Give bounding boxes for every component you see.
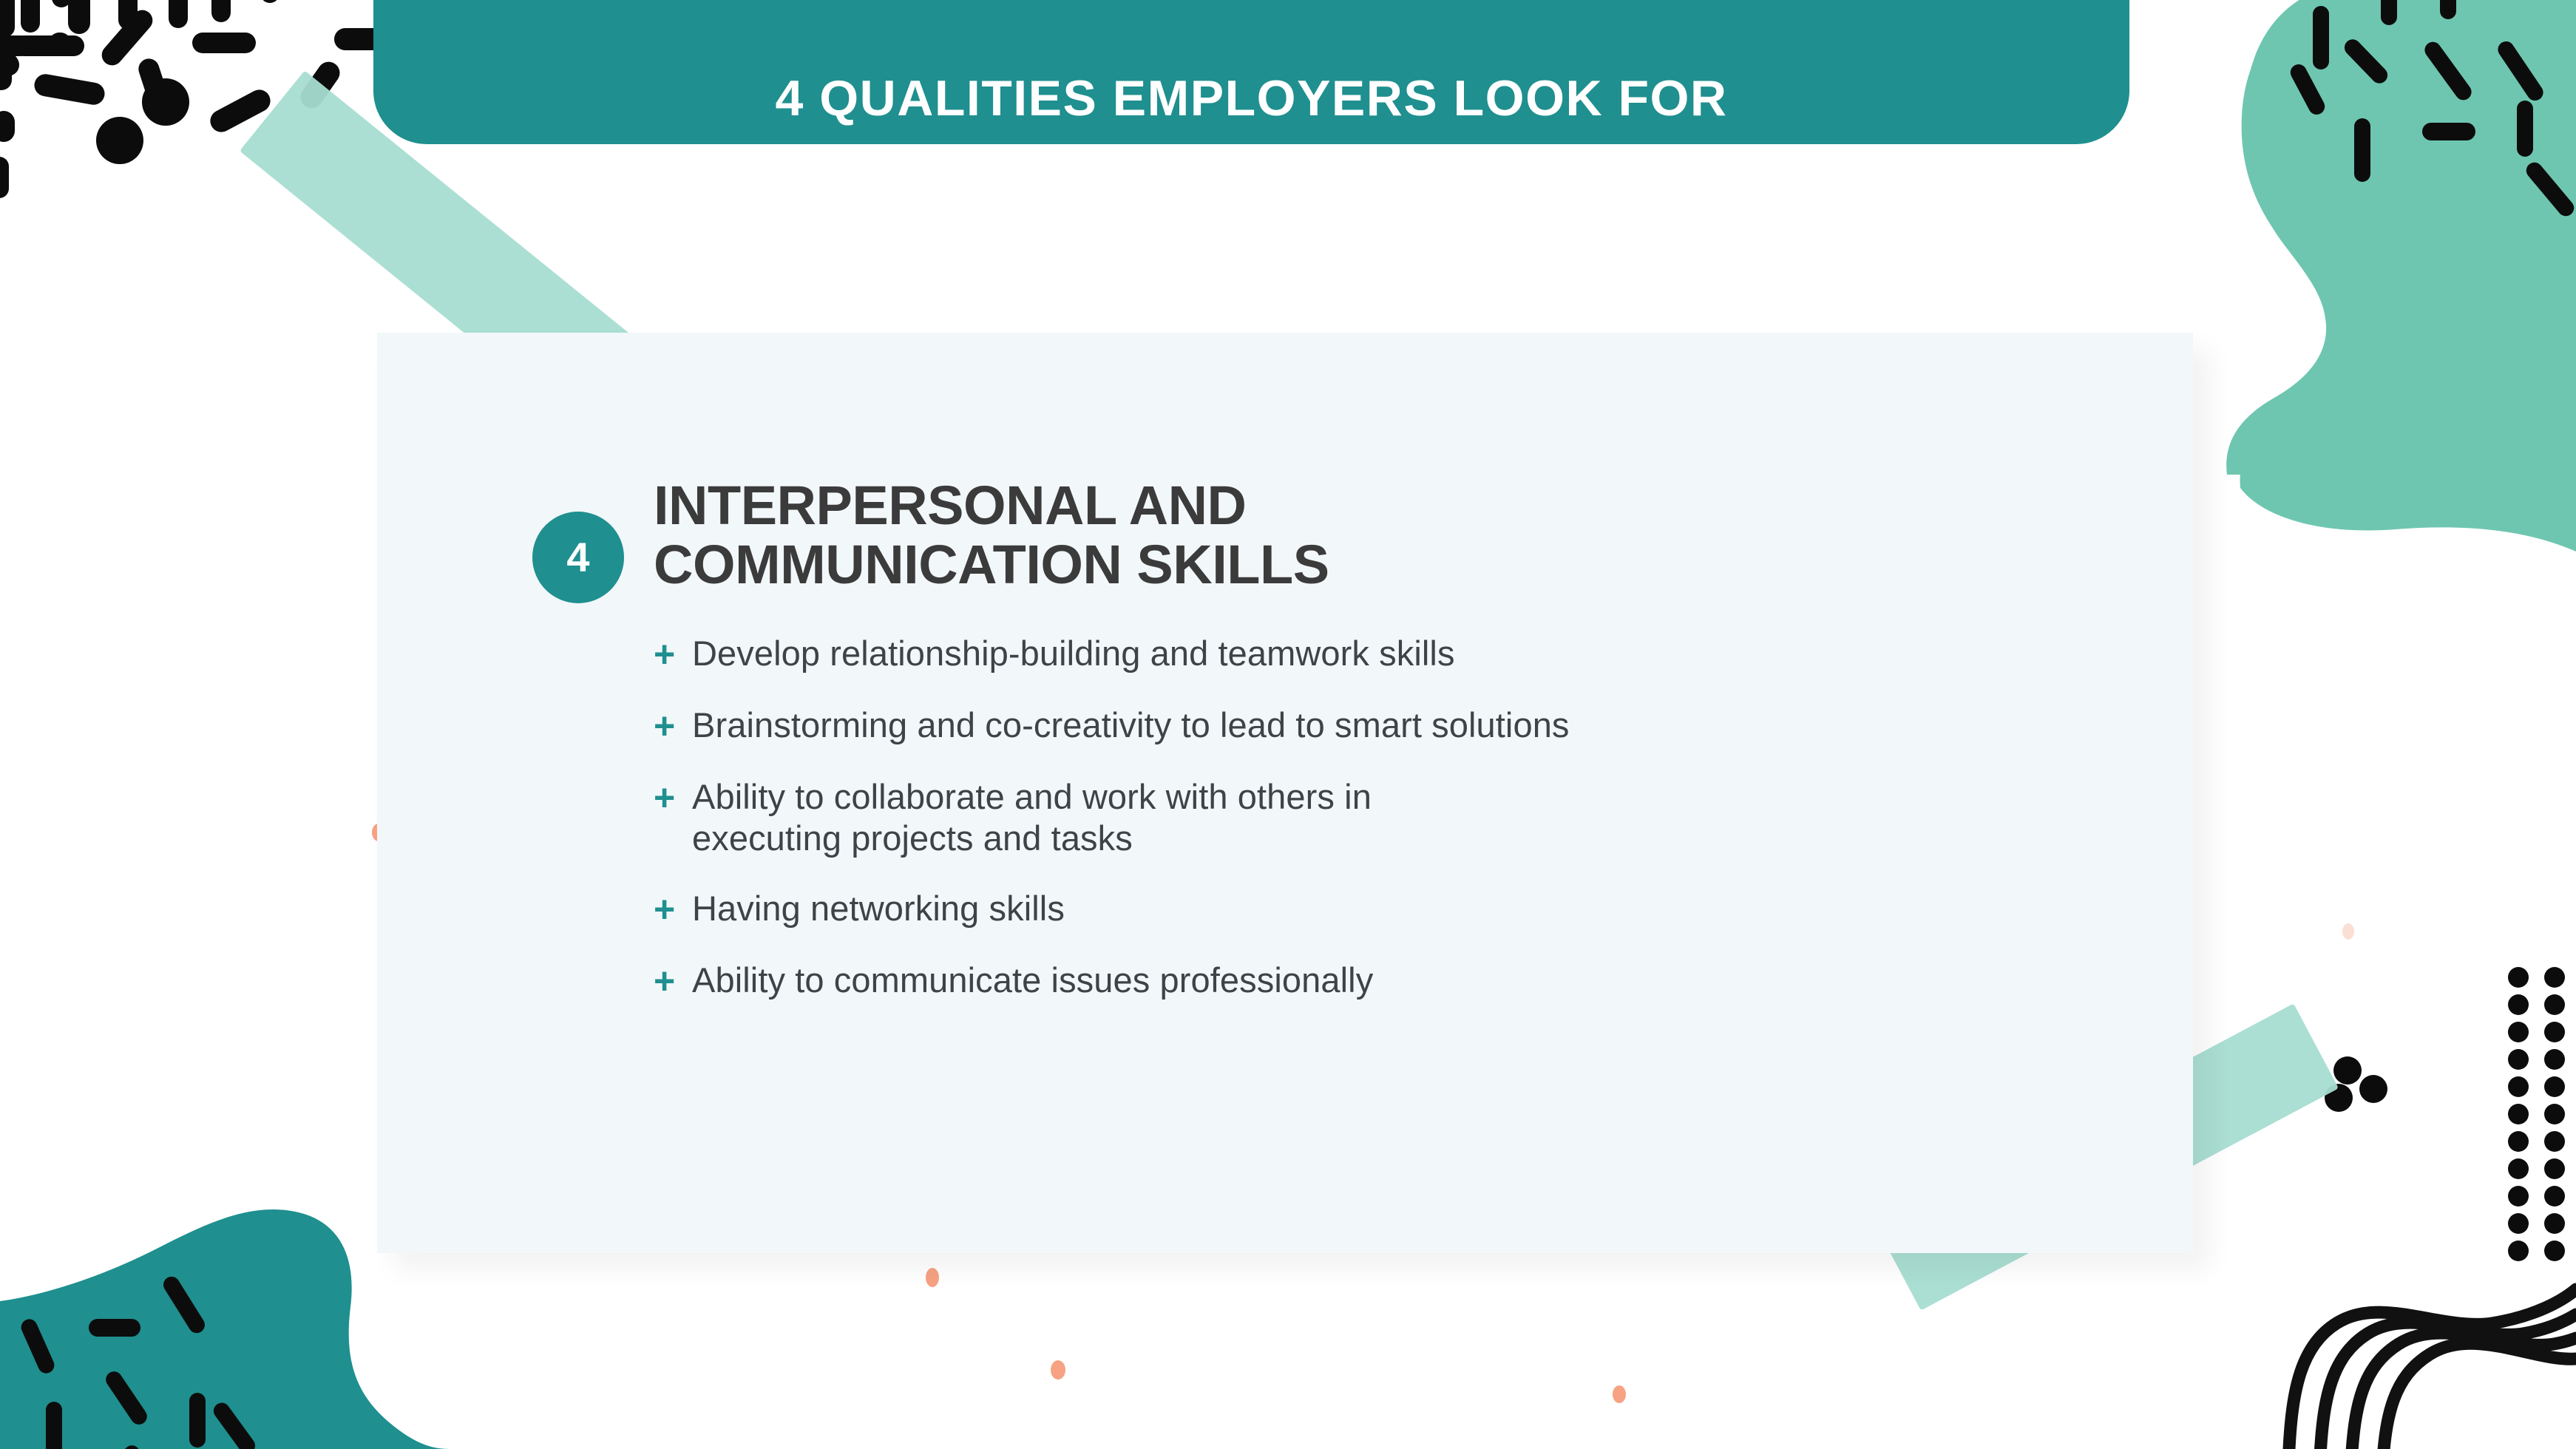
list-item: + Develop relationship-building and team… [654,633,2104,676]
top-right-mint-blob [2226,0,2576,552]
slide-canvas: 4 QUALITIES EMPLOYERS LOOK FOR 4 INTERPE… [0,0,2576,1449]
list-item-label: Develop relationship-building and teamwo… [692,633,1455,674]
card-content: 4 INTERPERSONAL AND COMMUNICATION SKILLS… [532,473,2104,1003]
plus-icon: + [654,960,692,1003]
bottom-right-wave-lines [2289,1289,2576,1449]
plus-icon: + [654,888,692,931]
list-item: + Brainstorming and co-creativity to lea… [654,705,2104,748]
list-item-label: Ability to collaborate and work with oth… [692,776,1372,860]
list-item: + Having networking skills [654,888,2104,931]
page-title: 4 QUALITIES EMPLOYERS LOOK FOR [776,73,1728,123]
list-item: + Ability to communicate issues professi… [654,960,2104,1003]
header-banner: 4 QUALITIES EMPLOYERS LOOK FOR [373,0,2129,144]
card-heading: INTERPERSONAL AND COMMUNICATION SKILLS [654,473,1689,594]
list-item: + Ability to collaborate and work with o… [654,776,2104,860]
bullet-list: + Develop relationship-building and team… [654,633,2104,1003]
plus-icon: + [654,705,692,748]
plus-icon: + [654,776,692,820]
number-badge: 4 [532,512,624,603]
list-item-label: Brainstorming and co-creativity to lead … [692,705,1570,746]
plus-icon: + [654,633,692,676]
content-card: 4 INTERPERSONAL AND COMMUNICATION SKILLS… [377,333,2193,1253]
list-item-label: Having networking skills [692,888,1065,929]
bottom-right-dot-grid [2508,967,2565,1261]
heading-row: 4 INTERPERSONAL AND COMMUNICATION SKILLS [532,473,2104,603]
list-item-label: Ability to communicate issues profession… [692,960,1373,1001]
